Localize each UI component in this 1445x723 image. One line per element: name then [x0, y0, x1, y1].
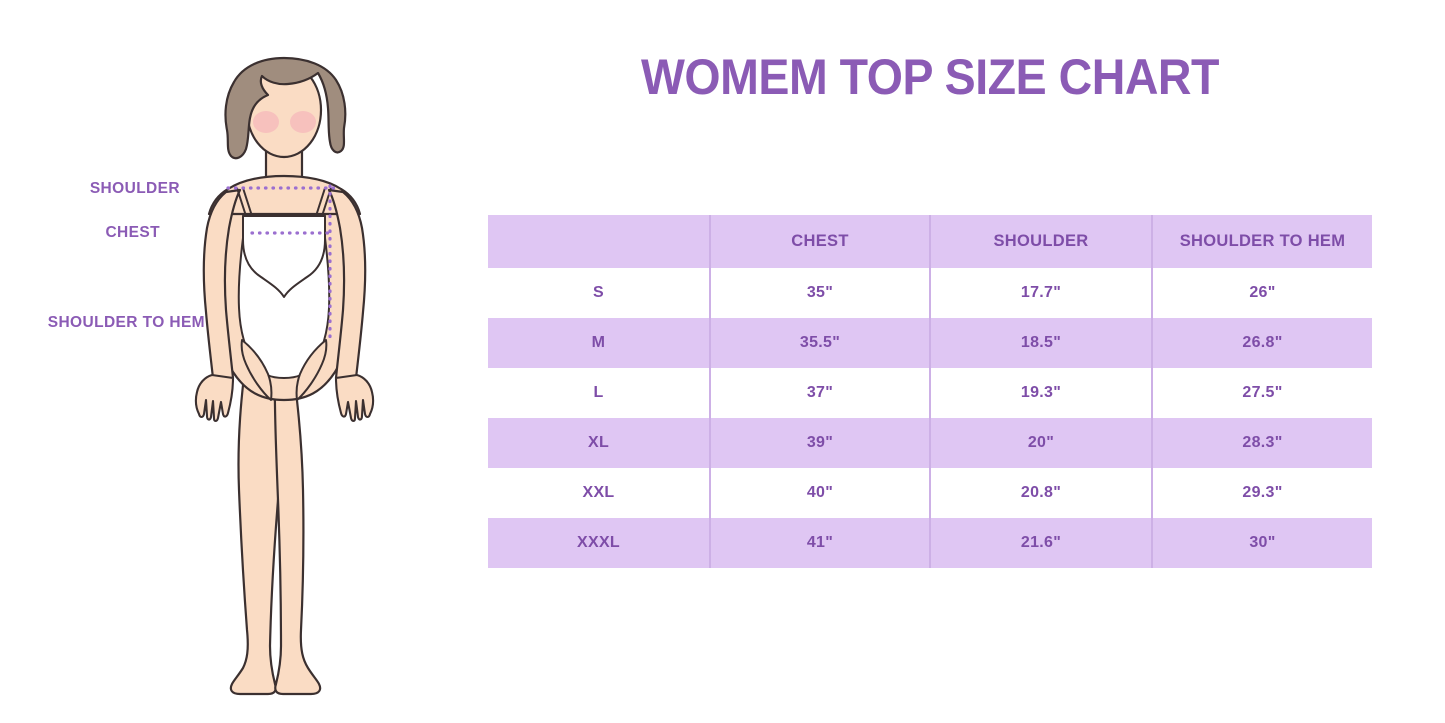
size-chart-table: CHEST SHOULDER SHOULDER TO HEM S35"17.7"… [488, 215, 1372, 568]
table-row: XXXL41"21.6"30" [488, 518, 1372, 568]
size-cell: L [488, 368, 710, 418]
header-cell-chest: CHEST [710, 215, 930, 268]
chest-cell: 41" [710, 518, 930, 568]
shoulder-cell: 18.5" [930, 318, 1152, 368]
measurement-label-shoulder-to-hem: SHOULDER TO HEM [48, 314, 205, 332]
table-body: S35"17.7"26"M35.5"18.5"26.8"L37"19.3"27.… [488, 268, 1372, 568]
table-row: M35.5"18.5"26.8" [488, 318, 1372, 368]
chest-cell: 40" [710, 468, 930, 518]
female-figure-illustration [0, 0, 470, 723]
header-cell-size [488, 215, 710, 268]
shoulder-cell: 17.7" [930, 268, 1152, 318]
chest-cell: 35.5" [710, 318, 930, 368]
size-cell: S [488, 268, 710, 318]
right-hand-shape [336, 375, 373, 421]
shoulder-to-hem-cell: 30" [1152, 518, 1372, 568]
table-header-row: CHEST SHOULDER SHOULDER TO HEM [488, 215, 1372, 268]
body-group [196, 58, 373, 694]
shoulder-to-hem-cell: 26" [1152, 268, 1372, 318]
right-cheek-blush [290, 111, 316, 133]
shoulder-cell: 20" [930, 418, 1152, 468]
female-body-diagram [0, 0, 470, 723]
shoulder-cell: 19.3" [930, 368, 1152, 418]
table-row: S35"17.7"26" [488, 268, 1372, 318]
shoulder-cell: 20.8" [930, 468, 1152, 518]
header-cell-shoulder: SHOULDER [930, 215, 1152, 268]
chest-cell: 37" [710, 368, 930, 418]
chest-cell: 39" [710, 418, 930, 468]
header-cell-shoulder-to-hem: SHOULDER TO HEM [1152, 215, 1372, 268]
shoulder-to-hem-cell: 26.8" [1152, 318, 1372, 368]
shoulder-to-hem-cell: 27.5" [1152, 368, 1372, 418]
table-row: XXL40"20.8"29.3" [488, 468, 1372, 518]
size-cell: XXXL [488, 518, 710, 568]
shoulder-to-hem-cell: 28.3" [1152, 418, 1372, 468]
left-cheek-blush [253, 111, 279, 133]
table-row: XL39"20"28.3" [488, 418, 1372, 468]
left-hand-shape [196, 375, 233, 421]
size-cell: XXL [488, 468, 710, 518]
measurement-label-chest: CHEST [105, 224, 160, 242]
shoulder-to-hem-cell: 29.3" [1152, 468, 1372, 518]
page-title: WOMEM TOP SIZE CHART [502, 48, 1358, 106]
size-cell: M [488, 318, 710, 368]
shoulder-cell: 21.6" [930, 518, 1152, 568]
size-cell: XL [488, 418, 710, 468]
table-row: L37"19.3"27.5" [488, 368, 1372, 418]
chest-cell: 35" [710, 268, 930, 318]
measurement-label-shoulder: SHOULDER [90, 180, 180, 198]
table-header: CHEST SHOULDER SHOULDER TO HEM [488, 215, 1372, 268]
